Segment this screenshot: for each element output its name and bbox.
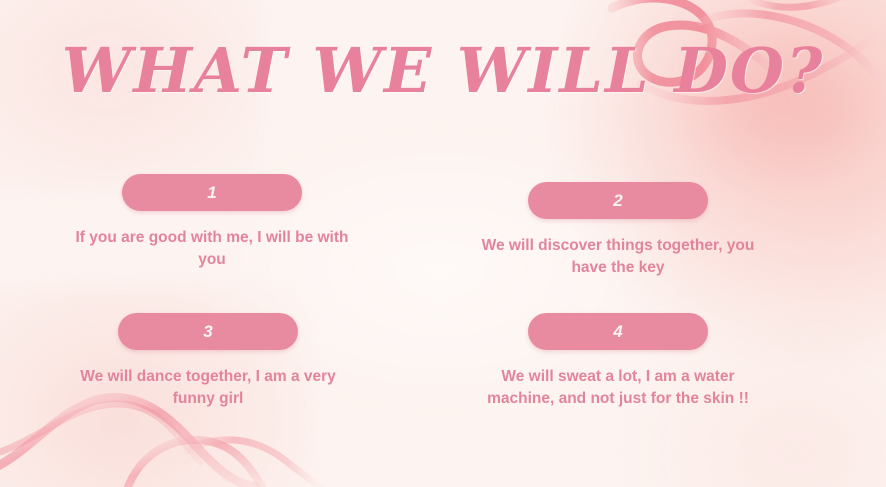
item-text: We will sweat a lot, I am a water machin… [468,366,768,411]
list-item: 3 We will dance together, I am a very fu… [58,313,358,411]
slide-canvas: WHAT WE WILL DO? 1 If you are good with … [0,0,886,487]
list-item: 4 We will sweat a lot, I am a water mach… [468,313,768,411]
item-number: 1 [207,184,216,201]
item-badge-2: 2 [528,182,708,219]
item-text: We will dance together, I am a very funn… [58,366,358,411]
item-number: 3 [203,323,212,340]
items-grid: 1 If you are good with me, I will be wit… [0,160,886,480]
list-item: 2 We will discover things together, you … [468,182,768,280]
item-text: We will discover things together, you ha… [468,235,768,280]
item-number: 4 [613,323,622,340]
item-badge-3: 3 [118,313,298,350]
page-title: WHAT WE WILL DO? [0,34,886,107]
list-item: 1 If you are good with me, I will be wit… [62,174,362,272]
item-text: If you are good with me, I will be with … [62,227,362,272]
item-badge-4: 4 [528,313,708,350]
item-number: 2 [613,192,622,209]
item-badge-1: 1 [122,174,302,211]
